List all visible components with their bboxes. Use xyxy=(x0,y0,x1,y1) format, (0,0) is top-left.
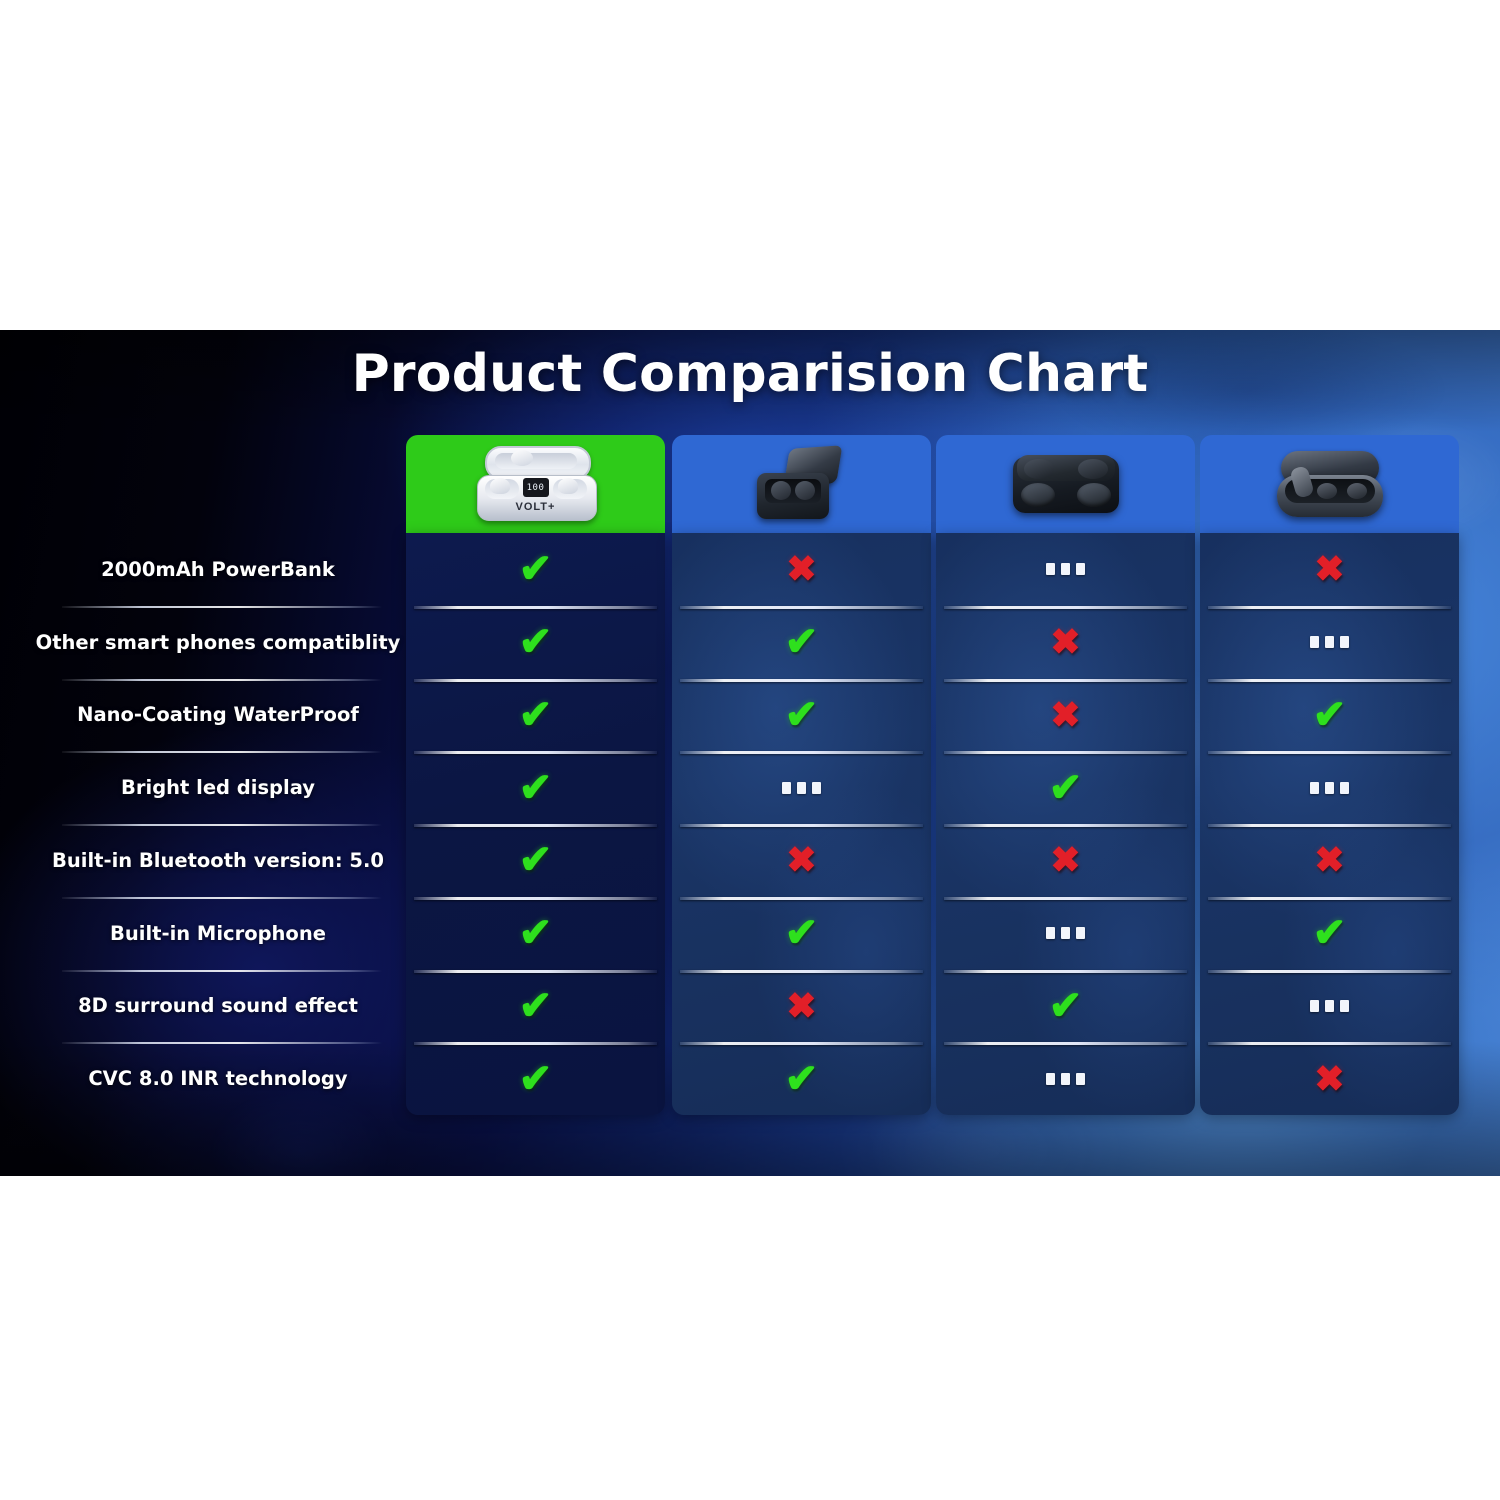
cross-icon: ✖ xyxy=(1050,697,1080,733)
cell-2-8: ✔ xyxy=(672,1042,931,1115)
cell-3-6 xyxy=(936,897,1195,970)
feature-row: 8D surround sound effect xyxy=(40,970,396,1043)
cell-1-3: ✔ xyxy=(406,679,665,752)
cell-1-8: ✔ xyxy=(406,1042,665,1115)
product-column-2[interactable]: ✖ ✔ ✔ ✖ ✔ ✖ ✔ xyxy=(672,435,931,1115)
cell-2-1: ✖ xyxy=(672,533,931,606)
cell-2-2: ✔ xyxy=(672,606,931,679)
cell-2-6: ✔ xyxy=(672,897,931,970)
check-icon: ✔ xyxy=(785,1059,819,1099)
feature-label-column: 2000mAh PowerBank Other smart phones com… xyxy=(40,533,396,1115)
cell-4-5: ✖ xyxy=(1200,824,1459,897)
dots-icon xyxy=(1310,636,1349,648)
check-icon: ✔ xyxy=(519,986,553,1026)
product-header-2 xyxy=(672,435,931,533)
cell-4-7 xyxy=(1200,970,1459,1043)
cell-4-8: ✖ xyxy=(1200,1042,1459,1115)
cell-4-3: ✔ xyxy=(1200,679,1459,752)
cell-4-4 xyxy=(1200,751,1459,824)
cell-2-3: ✔ xyxy=(672,679,931,752)
check-icon: ✔ xyxy=(519,549,553,589)
feature-label: Nano-Coating WaterProof xyxy=(77,703,359,726)
led-display-value: 100 xyxy=(527,483,545,493)
cell-3-7: ✔ xyxy=(936,970,1195,1043)
cross-icon: ✖ xyxy=(786,988,816,1024)
check-icon: ✔ xyxy=(1313,913,1347,953)
cell-4-6: ✔ xyxy=(1200,897,1459,970)
feature-row: Bright led display xyxy=(40,751,396,824)
page-root: Product Comparision Chart 2000mAh PowerB… xyxy=(0,0,1500,1500)
cell-3-5: ✖ xyxy=(936,824,1195,897)
check-icon: ✔ xyxy=(519,840,553,880)
product-brand-label: VOLT+ xyxy=(461,501,611,513)
feature-row: Other smart phones compatiblity xyxy=(40,606,396,679)
cell-2-7: ✖ xyxy=(672,970,931,1043)
product-header-1: 100 VOLT+ xyxy=(406,435,665,533)
cell-2-4 xyxy=(672,751,931,824)
cross-icon: ✖ xyxy=(1050,624,1080,660)
product-comparison-banner: Product Comparision Chart 2000mAh PowerB… xyxy=(0,330,1500,1176)
cell-1-4: ✔ xyxy=(406,751,665,824)
cross-icon: ✖ xyxy=(1314,842,1344,878)
cell-1-6: ✔ xyxy=(406,897,665,970)
dots-icon xyxy=(1310,782,1349,794)
cell-4-1: ✖ xyxy=(1200,533,1459,606)
cell-3-8 xyxy=(936,1042,1195,1115)
cell-1-2: ✔ xyxy=(406,606,665,679)
cell-3-3: ✖ xyxy=(936,679,1195,752)
product-header-4 xyxy=(1200,435,1459,533)
feature-label: Bright led display xyxy=(121,776,315,799)
check-icon: ✔ xyxy=(519,1059,553,1099)
product-column-1[interactable]: 100 VOLT+ ✔ ✔ ✔ ✔ ✔ ✔ ✔ ✔ xyxy=(406,435,665,1115)
check-icon: ✔ xyxy=(1049,768,1083,808)
cell-3-2: ✖ xyxy=(936,606,1195,679)
dots-icon xyxy=(1046,563,1085,575)
white-earbuds-case-volt-plus-icon: 100 VOLT+ xyxy=(461,445,611,523)
check-icon: ✔ xyxy=(785,913,819,953)
grey-oval-earbuds-case-icon xyxy=(1255,445,1405,523)
feature-label: Built-in Bluetooth version: 5.0 xyxy=(52,849,384,872)
feature-row: Built-in Microphone xyxy=(40,897,396,970)
check-icon: ✔ xyxy=(519,622,553,662)
product-column-2-cells: ✖ ✔ ✔ ✖ ✔ ✖ ✔ xyxy=(672,533,931,1115)
product-column-3-cells: ✖ ✖ ✔ ✖ ✔ xyxy=(936,533,1195,1115)
cross-icon: ✖ xyxy=(1314,1061,1344,1097)
dots-icon xyxy=(1046,927,1085,939)
check-icon: ✔ xyxy=(519,695,553,735)
dots-icon xyxy=(1046,1073,1085,1085)
cell-3-1 xyxy=(936,533,1195,606)
cell-4-2 xyxy=(1200,606,1459,679)
dots-icon xyxy=(782,782,821,794)
cell-3-4: ✔ xyxy=(936,751,1195,824)
product-column-3[interactable]: ✖ ✖ ✔ ✖ ✔ xyxy=(936,435,1195,1115)
page-title: Product Comparision Chart xyxy=(0,344,1500,404)
check-icon: ✔ xyxy=(785,695,819,735)
check-icon: ✔ xyxy=(785,622,819,662)
cell-1-5: ✔ xyxy=(406,824,665,897)
cell-1-7: ✔ xyxy=(406,970,665,1043)
feature-label: 8D surround sound effect xyxy=(78,994,358,1017)
check-icon: ✔ xyxy=(519,913,553,953)
feature-row: 2000mAh PowerBank xyxy=(40,533,396,606)
black-square-earbuds-case-icon xyxy=(727,445,877,523)
dots-icon xyxy=(1310,1000,1349,1012)
product-column-1-cells: ✔ ✔ ✔ ✔ ✔ ✔ ✔ ✔ xyxy=(406,533,665,1115)
check-icon: ✔ xyxy=(519,768,553,808)
check-icon: ✔ xyxy=(1313,695,1347,735)
cross-icon: ✖ xyxy=(786,842,816,878)
cell-1-1: ✔ xyxy=(406,533,665,606)
feature-row: Nano-Coating WaterProof xyxy=(40,679,396,752)
feature-row: Built-in Bluetooth version: 5.0 xyxy=(40,824,396,897)
cell-2-5: ✖ xyxy=(672,824,931,897)
cross-icon: ✖ xyxy=(1050,842,1080,878)
feature-row: CVC 8.0 INR technology xyxy=(40,1042,396,1115)
feature-label: Built-in Microphone xyxy=(110,922,326,945)
feature-label: 2000mAh PowerBank xyxy=(101,558,335,581)
check-icon: ✔ xyxy=(1049,986,1083,1026)
feature-label: CVC 8.0 INR technology xyxy=(88,1067,347,1090)
product-header-3 xyxy=(936,435,1195,533)
product-column-4[interactable]: ✖ ✔ ✖ ✔ ✖ xyxy=(1200,435,1459,1115)
feature-label: Other smart phones compatiblity xyxy=(36,631,401,654)
product-column-4-cells: ✖ ✔ ✖ ✔ ✖ xyxy=(1200,533,1459,1115)
cross-icon: ✖ xyxy=(786,551,816,587)
cross-icon: ✖ xyxy=(1314,551,1344,587)
black-wide-earbuds-case-icon xyxy=(991,445,1141,523)
